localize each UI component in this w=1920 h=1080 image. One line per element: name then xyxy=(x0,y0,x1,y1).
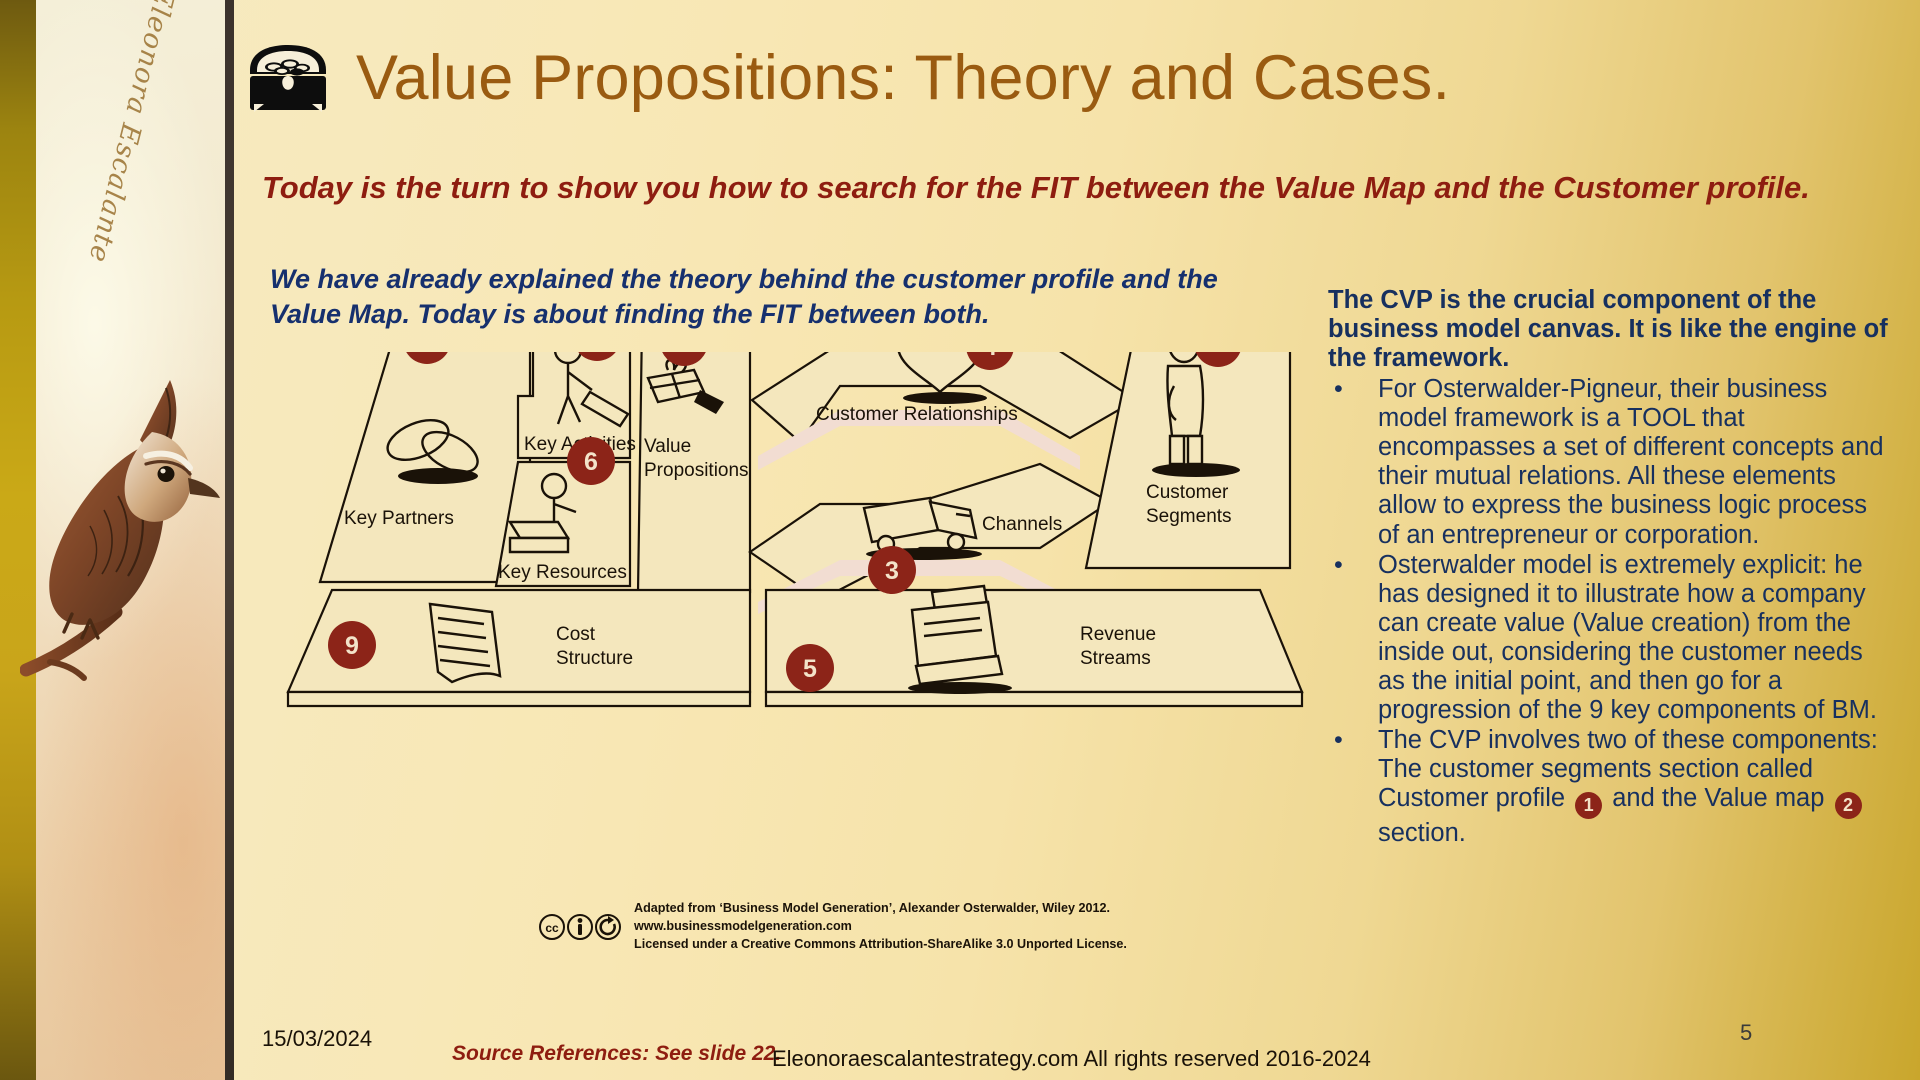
bullet-part-2: and the Value map xyxy=(1605,784,1831,812)
canvas-label-key-partners: Key Partners xyxy=(344,508,454,529)
canvas-badge-9: 9 xyxy=(328,621,376,669)
canvas-block-customer-segments: Customer Segments xyxy=(1086,352,1290,568)
footer-page-number: 5 xyxy=(1740,1020,1752,1046)
canvas-label-key-resources: Key Resources xyxy=(498,562,627,583)
canvas-block-revenue-streams: Revenue Streams xyxy=(766,586,1302,706)
bullet-text: Osterwalder model is extremely explicit:… xyxy=(1378,551,1888,725)
bullet-marker-icon: • xyxy=(1328,375,1378,549)
canvas-label-value-propositions-line1: Value xyxy=(644,436,691,457)
canvas-label-channels: Channels xyxy=(982,514,1062,535)
canvas-label-customer-segments-line1: Customer xyxy=(1146,482,1229,503)
canvas-badge-5: 5 xyxy=(786,644,834,692)
canvas-label-value-propositions-line2: Propositions xyxy=(644,460,749,481)
invoice-document-icon xyxy=(430,604,500,682)
attribution-line-2: www.businessmodelgeneration.com xyxy=(634,918,1127,936)
canvas-badge-3: 3 xyxy=(868,546,916,594)
business-model-canvas-diagram: Key Partners Key Activities xyxy=(280,352,1320,822)
list-item: • The CVP involves two of these componen… xyxy=(1328,726,1888,848)
bullet-marker-icon: • xyxy=(1328,551,1378,725)
footer-rights: Eleonoraescalantestrategy.com All rights… xyxy=(772,1046,1371,1072)
wren-bird-illustration xyxy=(20,370,225,690)
bullet-text-rich: The CVP involves two of these components… xyxy=(1378,726,1888,848)
attribution-line-3: Licensed under a Creative Commons Attrib… xyxy=(634,936,1127,954)
inline-badge-2: 2 xyxy=(1835,792,1862,819)
footer-source-reference: Source References: See slide 22. xyxy=(452,1042,781,1066)
canvas-label-revenue-streams-line2: Streams xyxy=(1080,648,1151,669)
canvas-block-customer-relationships: Customer Relationships xyxy=(752,352,1136,470)
footer-date: 15/03/2024 xyxy=(262,1026,372,1052)
list-item: • Osterwalder model is extremely explici… xyxy=(1328,551,1888,725)
slide-canvas: Eleonora Escalante Value Proposition xyxy=(0,0,1920,1080)
canvas-label-cost-structure-line2: Structure xyxy=(556,648,633,669)
inline-badge-1: 1 xyxy=(1575,792,1602,819)
canvas-label-cost-structure-line1: Cost xyxy=(556,624,596,645)
creative-commons-icons: cc xyxy=(538,913,622,941)
canvas-badge-4-text: 4 xyxy=(983,352,997,361)
canvas-block-value-propositions: Value Propositions xyxy=(638,352,750,592)
page-title: Value Propositions: Theory and Cases. xyxy=(356,42,1450,114)
canvas-badge-6: 6 xyxy=(567,437,615,485)
treasure-chest-icon xyxy=(242,42,334,114)
canvas-block-key-resources: Key Resources xyxy=(496,462,630,586)
canvas-badge-2-text: 2 xyxy=(677,352,691,357)
subtitle-red: Today is the turn to show you how to sea… xyxy=(262,168,1902,207)
bullet-text: For Osterwalder-Pigneur, their business … xyxy=(1378,375,1888,549)
canvas-label-customer-relationships: Customer Relationships xyxy=(816,404,1018,425)
canvas-block-key-partners: Key Partners xyxy=(320,352,530,582)
attribution-line-1: Adapted from ‘Business Model Generation’… xyxy=(634,900,1127,918)
svg-text:cc: cc xyxy=(545,921,559,935)
left-decorative-rail: Eleonora Escalante xyxy=(0,0,232,1080)
canvas-badge-8-text: 8 xyxy=(420,352,434,355)
canvas-badge-3-text: 3 xyxy=(885,557,899,585)
title-row: Value Propositions: Theory and Cases. xyxy=(242,42,1450,114)
canvas-label-customer-segments-line2: Segments xyxy=(1146,506,1232,527)
canvas-label-revenue-streams-line1: Revenue xyxy=(1080,624,1156,645)
attribution-text: Adapted from ‘Business Model Generation’… xyxy=(634,900,1127,954)
canvas-badge-6-text: 6 xyxy=(584,448,598,476)
subtitle-blue: We have already explained the theory beh… xyxy=(270,262,1290,331)
canvas-badge-5-text: 5 xyxy=(803,655,817,683)
bullet-part-3: section. xyxy=(1378,819,1466,847)
right-text-column: The CVP is the crucial component of the … xyxy=(1328,286,1888,848)
bullet-marker-icon: • xyxy=(1328,726,1378,848)
canvas-badge-9-text: 9 xyxy=(345,632,359,660)
canvas-badge-1-text: 1 xyxy=(1211,352,1225,358)
right-column-lead: The CVP is the crucial component of the … xyxy=(1328,286,1888,373)
list-item: • For Osterwalder-Pigneur, their busines… xyxy=(1328,375,1888,549)
attribution-block: cc Adapted from ‘Business Model Generati… xyxy=(538,900,1127,954)
